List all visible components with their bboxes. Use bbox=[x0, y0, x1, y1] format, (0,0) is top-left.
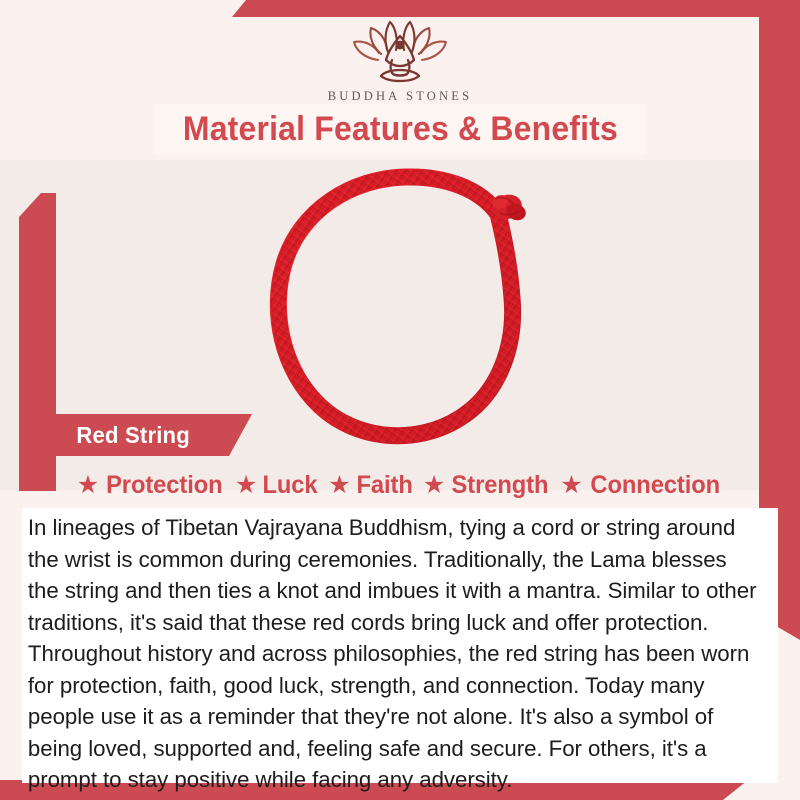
benefit-item: ★ Faith bbox=[328, 471, 414, 500]
description-text: In lineages of Tibetan Vajrayana Buddhis… bbox=[22, 508, 767, 796]
brand-wordmark: BUDDHA STONES bbox=[0, 89, 800, 104]
title-banner: Material Features & Benefits bbox=[155, 104, 645, 154]
infographic-page: BUDDHA STONES Material Features & Benefi… bbox=[0, 0, 800, 800]
star-icon: ★ bbox=[77, 473, 99, 498]
star-icon: ★ bbox=[235, 473, 257, 498]
benefit-label: Faith bbox=[356, 471, 412, 500]
page-title: Material Features & Benefits bbox=[182, 110, 617, 149]
star-icon: ★ bbox=[423, 473, 445, 498]
benefit-label: Strength bbox=[452, 471, 549, 500]
description-panel: In lineages of Tibetan Vajrayana Buddhis… bbox=[22, 508, 778, 783]
product-name-label: Red String bbox=[76, 422, 190, 449]
benefit-item: ★ Connection bbox=[560, 471, 723, 500]
benefit-item: ★ Strength bbox=[423, 471, 551, 500]
benefit-label: Protection bbox=[106, 471, 222, 500]
star-icon: ★ bbox=[328, 473, 350, 498]
benefit-label: Luck bbox=[263, 471, 318, 500]
lotus-meditation-icon bbox=[348, 14, 452, 86]
star-icon: ★ bbox=[560, 473, 582, 498]
benefit-item: ★ Luck bbox=[235, 471, 319, 500]
brand-header: BUDDHA STONES bbox=[0, 14, 800, 104]
product-name-ribbon: Red String bbox=[19, 414, 252, 456]
benefit-item: ★ Protection bbox=[77, 471, 226, 500]
benefits-row: ★ Protection ★ Luck ★ Faith ★ Strength ★… bbox=[0, 466, 800, 504]
product-image-red-string-bracelet bbox=[248, 166, 568, 456]
benefit-label: Connection bbox=[590, 471, 720, 500]
